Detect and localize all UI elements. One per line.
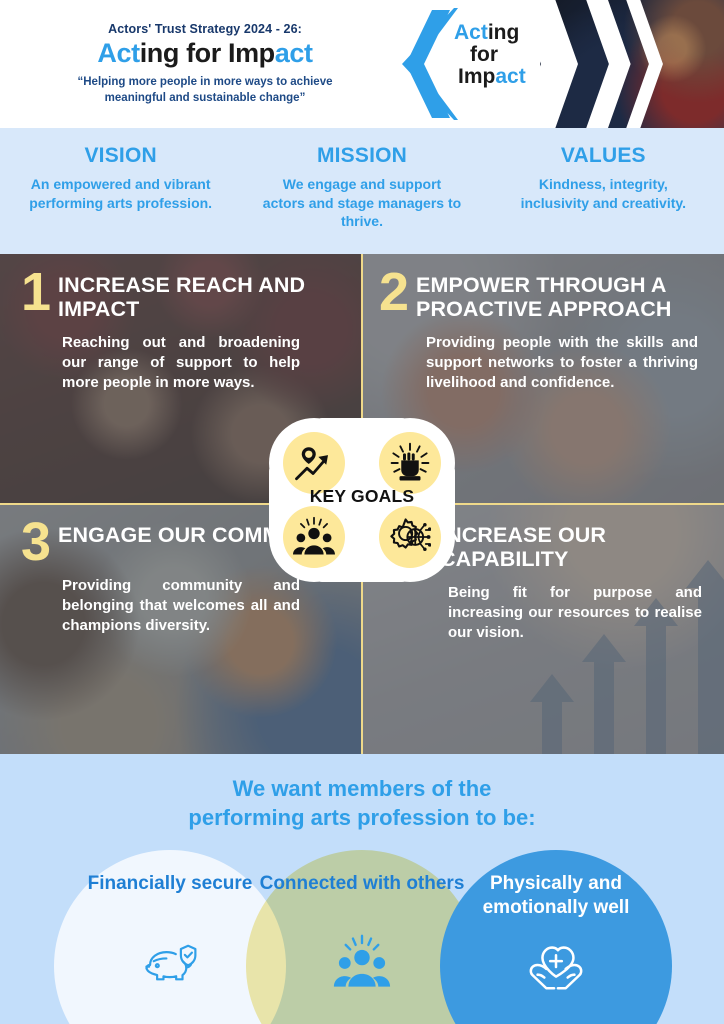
footer-heading: We want members of the performing arts p… [0, 774, 724, 832]
goal-1-number: 1 [14, 270, 58, 314]
logo-act: Act [454, 21, 488, 44]
logo-imp: Imp [458, 65, 495, 88]
people-group-icon [333, 934, 391, 992]
venn-icon-wrap-3 [440, 934, 672, 996]
goal-3-description: Providing community and belonging that w… [62, 576, 300, 636]
mission-heading: MISSION [317, 144, 407, 168]
vision-heading: VISION [84, 144, 156, 168]
goal-2-description: Providing people with the skills and sup… [426, 333, 698, 393]
goal-1-description: Reaching out and broadening our range of… [62, 333, 300, 393]
key-goals-badge: KEY GOALS [269, 418, 455, 582]
page-title-accent: Act [97, 38, 139, 68]
vision-column: VISION An empowered and vibrant performi… [0, 128, 241, 254]
hands-heart-plus-icon [525, 934, 587, 996]
footer-heading-line1: We want members of the [0, 774, 724, 803]
mission-body: We engage and support actors and stage m… [262, 175, 462, 231]
header-title-block: Actors' Trust Strategy 2024 - 26: Acting… [0, 0, 410, 128]
key-goals-label: KEY GOALS [269, 486, 455, 507]
key-goal-icon-3 [283, 506, 345, 568]
vision-mission-values-band: VISION An empowered and vibrant performi… [0, 128, 724, 254]
goal-4-description: Being fit for purpose and increasing our… [448, 583, 702, 643]
mission-column: MISSION We engage and support actors and… [241, 128, 482, 254]
logo-ing: ing [488, 21, 520, 44]
header-photo [540, 0, 724, 128]
page-title-mid: ing for Imp [140, 38, 275, 68]
gear-network-icon [389, 516, 431, 558]
community-group-icon [293, 516, 335, 558]
goal-1-title: INCREASE REACH AND IMPACT [58, 270, 348, 321]
venn-diagram: Financially secure Connected with others… [0, 850, 724, 1024]
footer-outcomes: We want members of the performing arts p… [0, 754, 724, 1024]
vision-body: An empowered and vibrant performing arts… [21, 175, 221, 212]
footer-heading-line2: performing arts profession to be: [0, 803, 724, 832]
header: Actors' Trust Strategy 2024 - 26: Acting… [0, 0, 724, 128]
page-title-accent-2: act [275, 38, 313, 68]
page-title: Acting for Impact [97, 40, 312, 67]
key-goal-icon-4 [379, 506, 441, 568]
key-goal-icon-2 [379, 432, 441, 494]
infographic-page: Actors' Trust Strategy 2024 - 26: Acting… [0, 0, 724, 1024]
values-column: VALUES Kindness, integrity, inclusivity … [483, 128, 724, 254]
key-goal-icon-1 [283, 432, 345, 494]
strategy-quote: “Helping more people in more ways to ach… [65, 75, 345, 107]
piggy-bank-shield-icon [141, 934, 199, 992]
strapline: Actors' Trust Strategy 2024 - 26: [108, 22, 302, 36]
goal-2-number: 2 [372, 270, 416, 314]
logo-act2: act [495, 65, 525, 88]
raised-fist-icon [389, 442, 431, 484]
goal-2-title: EMPOWER THROUGH A PROACTIVE APPROACH [416, 270, 710, 321]
heart-growth-arrow-icon [293, 442, 335, 484]
goal-3-number: 3 [14, 520, 58, 564]
values-heading: VALUES [561, 144, 646, 168]
chevron-left-icon [402, 8, 458, 120]
goal-4-title: INCREASE OUR CAPABILITY [440, 520, 710, 571]
values-body: Kindness, integrity, inclusivity and cre… [503, 175, 703, 212]
venn-label-3: Physically and emotionally well [440, 872, 672, 920]
